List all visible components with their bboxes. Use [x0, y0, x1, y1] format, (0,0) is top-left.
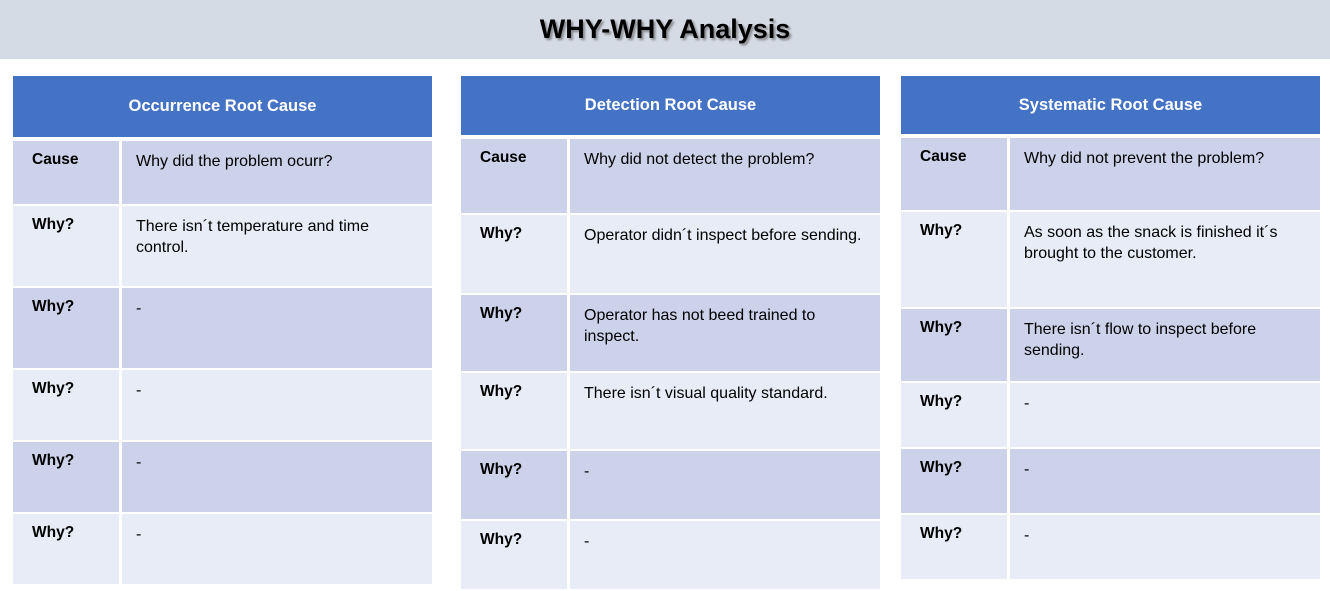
row-value: Why did not prevent the problem? [1010, 138, 1320, 210]
row-value: - [570, 521, 880, 589]
table-row: Why? - [13, 442, 432, 512]
row-value: Why did not detect the problem? [570, 139, 880, 213]
row-label: Why? [461, 521, 567, 589]
table-row: Why? - [13, 370, 432, 440]
row-label: Why? [901, 449, 1007, 513]
row-label: Why? [13, 514, 119, 584]
row-label: Why? [13, 288, 119, 368]
table-header-detection: Detection Root Cause [461, 76, 880, 135]
title-banner: WHY-WHY Analysis [0, 0, 1330, 59]
row-label: Why? [901, 212, 1007, 307]
row-label: Why? [461, 451, 567, 519]
row-value: There isn´t flow to inspect before sendi… [1010, 309, 1320, 381]
row-value: - [570, 451, 880, 519]
table-row: Cause Why did the problem ocurr? [13, 141, 432, 204]
table-body-systematic: Cause Why did not prevent the problem? W… [901, 138, 1320, 579]
row-value: There isn´t visual quality standard. [570, 373, 880, 449]
table-row: Cause Why did not prevent the problem? [901, 138, 1320, 210]
row-value: There isn´t temperature and time control… [122, 206, 432, 286]
table-row: Cause Why did not detect the problem? [461, 139, 880, 213]
row-label: Cause [901, 138, 1007, 210]
table-header-occurrence: Occurrence Root Cause [13, 76, 432, 137]
row-label: Cause [13, 141, 119, 204]
table-body-occurrence: Cause Why did the problem ocurr? Why? Th… [13, 141, 432, 584]
table-row: Why? - [13, 514, 432, 584]
table-row: Why? - [13, 288, 432, 368]
row-value: - [1010, 515, 1320, 579]
row-value: Operator has not beed trained to inspect… [570, 295, 880, 371]
row-value: - [122, 370, 432, 440]
table-body-detection: Cause Why did not detect the problem? Wh… [461, 139, 880, 589]
row-value: Why did the problem ocurr? [122, 141, 432, 204]
row-value: As soon as the snack is finished it´s br… [1010, 212, 1320, 307]
row-label: Why? [461, 215, 567, 293]
row-value: - [1010, 449, 1320, 513]
row-label: Why? [13, 206, 119, 286]
row-value: - [122, 288, 432, 368]
row-label: Why? [901, 515, 1007, 579]
row-value: - [122, 442, 432, 512]
row-value: - [1010, 383, 1320, 447]
table-row: Why? - [901, 449, 1320, 513]
root-cause-board: Occurrence Root Cause Cause Why did the … [0, 59, 1330, 591]
table-header-systematic: Systematic Root Cause [901, 76, 1320, 134]
row-label: Why? [901, 383, 1007, 447]
row-label: Why? [461, 295, 567, 371]
root-cause-table-systematic: Systematic Root Cause Cause Why did not … [901, 76, 1320, 579]
table-row: Why? - [901, 383, 1320, 447]
table-row: Why? As soon as the snack is finished it… [901, 212, 1320, 307]
table-row: Why? - [461, 521, 880, 589]
row-label: Why? [901, 309, 1007, 381]
row-label: Why? [461, 373, 567, 449]
table-row: Why? Operator has not beed trained to in… [461, 295, 880, 371]
row-value: Operator didn´t inspect before sending. [570, 215, 880, 293]
root-cause-table-occurrence: Occurrence Root Cause Cause Why did the … [13, 76, 432, 584]
table-row: Why? Operator didn´t inspect before send… [461, 215, 880, 293]
row-label: Why? [13, 442, 119, 512]
row-label: Why? [13, 370, 119, 440]
root-cause-table-detection: Detection Root Cause Cause Why did not d… [461, 76, 880, 589]
page-title: WHY-WHY Analysis [540, 14, 791, 45]
table-row: Why? There isn´t visual quality standard… [461, 373, 880, 449]
table-row: Why? There isn´t flow to inspect before … [901, 309, 1320, 381]
row-label: Cause [461, 139, 567, 213]
row-value: - [122, 514, 432, 584]
table-row: Why? There isn´t temperature and time co… [13, 206, 432, 286]
table-row: Why? - [461, 451, 880, 519]
table-row: Why? - [901, 515, 1320, 579]
